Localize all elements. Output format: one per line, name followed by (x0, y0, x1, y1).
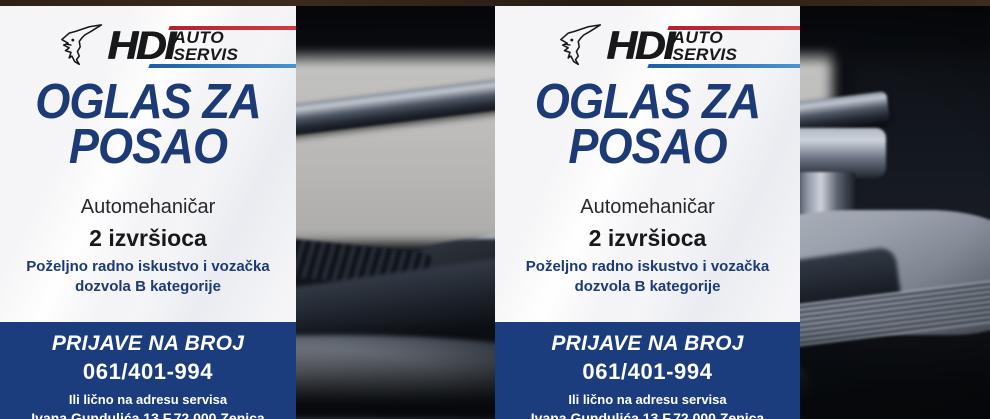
logo-auto-text: AUTO (673, 29, 738, 46)
contact-band: PRIJAVE NA BROJ 061/401-994 Ili lično na… (0, 322, 296, 419)
poster-canvas: HDI AUTO SERVIS OGLAS ZA POSAO Automehan… (0, 0, 990, 419)
poster-headline: OGLAS ZA POSAO (0, 80, 296, 170)
logo-sub-text: AUTO SERVIS (174, 29, 238, 64)
logo-red-stripe (168, 26, 296, 30)
logo-blue-stripe (148, 64, 296, 68)
logo-servis-text: SERVIS (173, 46, 238, 63)
logo-servis-text: SERVIS (673, 46, 738, 63)
address-intro: Ili lično na adresu servisa (0, 392, 296, 407)
brand-logo: HDI AUTO SERVIS (495, 20, 800, 72)
logo-sub-text: AUTO SERVIS (673, 29, 737, 64)
job-requirements: Poželjno radno iskustvo i vozačka dozvol… (495, 257, 800, 298)
headline-line-1: OGLAS ZA (507, 80, 788, 125)
address-intro: Ili lično na adresu servisa (495, 392, 800, 407)
requirement-line-1: Poželjno radno iskustvo i vozačka (526, 258, 769, 275)
headline-line-2: POSAO (12, 125, 284, 170)
headline-line-1: OGLAS ZA (12, 80, 284, 125)
requirement-line-1: Poželjno radno iskustvo i vozačka (26, 258, 269, 275)
logo-brand-text: HDI (606, 26, 673, 66)
job-role: Automehaničar (495, 196, 800, 219)
requirement-line-2: dozvola B kategorije (575, 278, 721, 295)
logo-red-stripe (668, 26, 800, 30)
call-to-action: PRIJAVE NA BROJ (0, 332, 296, 356)
call-to-action: PRIJAVE NA BROJ (495, 332, 800, 356)
logo-wordmark: HDI AUTO SERVIS (608, 22, 736, 70)
logo-auto-text: AUTO (173, 29, 238, 46)
contact-phone[interactable]: 061/401-994 (495, 359, 800, 385)
poster-headline: OGLAS ZA POSAO (495, 80, 800, 170)
job-openings-count: 2 izvršioca (0, 225, 296, 252)
job-requirements: Poželjno radno iskustvo i vozačka dozvol… (0, 257, 296, 298)
contact-band: PRIJAVE NA BROJ 061/401-994 Ili lično na… (495, 322, 800, 419)
panther-head-icon (59, 24, 105, 68)
panther-head-icon (558, 24, 604, 68)
address-detail: Ivana Gundulića 13 F,72 000 Zenica (495, 410, 800, 419)
top-edge-strip (0, 0, 990, 6)
contact-phone[interactable]: 061/401-994 (0, 359, 296, 385)
logo-wordmark: HDI AUTO SERVIS (109, 22, 237, 70)
job-role: Automehaničar (0, 196, 296, 219)
headline-line-2: POSAO (507, 125, 788, 170)
requirement-line-2: dozvola B kategorije (75, 278, 221, 295)
address-detail: Ivana Gundulića 13 F,72 000 Zenica (0, 410, 296, 419)
logo-blue-stripe (648, 64, 800, 68)
job-ad-poster: HDI AUTO SERVIS OGLAS ZA POSAO Automehan… (0, 6, 296, 419)
logo-brand-text: HDI (107, 26, 174, 66)
brand-logo: HDI AUTO SERVIS (0, 20, 296, 72)
job-openings-count: 2 izvršioca (495, 225, 800, 252)
job-ad-poster-repeat: HDI AUTO SERVIS OGLAS ZA POSAO Automehan… (495, 6, 800, 419)
